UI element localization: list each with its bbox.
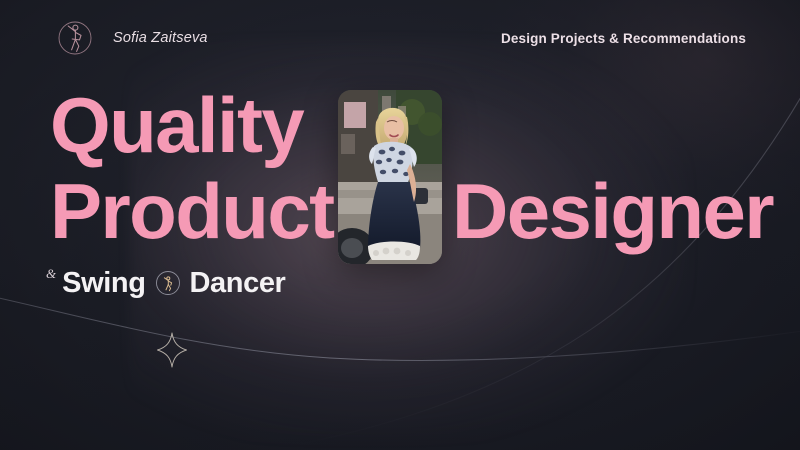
portrait-photo [338,90,442,264]
dancer-in-circle-icon [52,15,98,61]
header-tagline: Design Projects & Recommendations [501,31,746,46]
portrait-photo-illustration [338,90,442,264]
dancer-in-circle-icon [153,268,183,298]
brand-name: Sofia Zaitseva [113,30,208,46]
subtitle-word-dancer: Dancer [190,264,286,302]
subtitle-word-swing: Swing [62,264,145,302]
slide-header: Sofia Zaitseva Design Projects & Recomme… [0,0,800,76]
ampersand-mark: & [46,266,56,282]
four-point-sparkle-icon [155,331,189,369]
presentation-slide: Sofia Zaitseva Design Projects & Recomme… [0,0,800,450]
hero-subtitle: & Swing Dancer [46,264,285,302]
brand-block[interactable]: Sofia Zaitseva [52,15,208,61]
